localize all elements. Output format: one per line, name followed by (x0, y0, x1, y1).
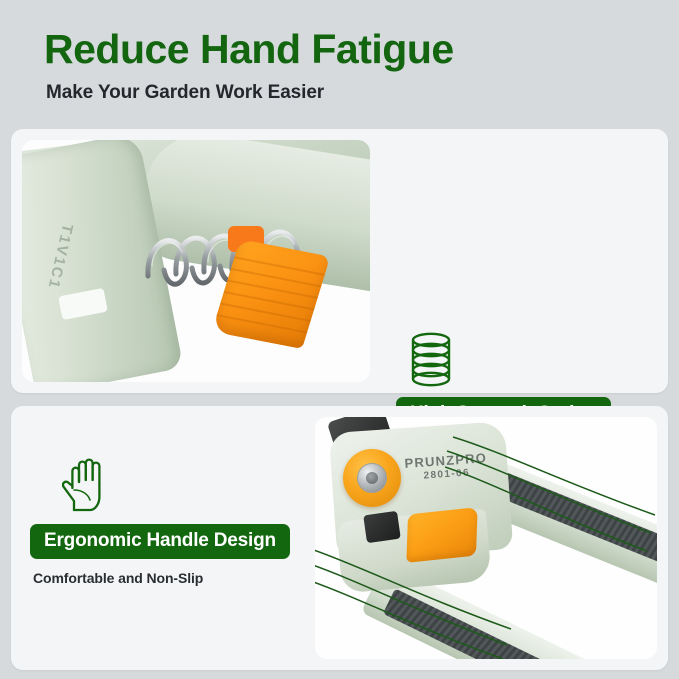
spring-coil-icon (408, 331, 454, 387)
orange-safety-lock (406, 507, 477, 563)
feature-panel-handle: Ergonomic Handle Design Comfortable and … (11, 406, 668, 670)
caption-handle: Comfortable and Non-Slip (30, 570, 310, 586)
icon-container (396, 325, 666, 387)
pruner-handle-photo: PRUNZPRO 2801-06 (315, 417, 657, 659)
status-badge-handle: Ergonomic Handle Design (30, 524, 290, 559)
black-catch (363, 511, 401, 543)
page-title: Reduce Hand Fatigue (44, 28, 644, 71)
header: Reduce Hand Fatigue Make Your Garden Wor… (44, 28, 644, 104)
spring-mechanism-photo: T1V1C1 (22, 140, 370, 382)
open-hand-icon (62, 456, 110, 514)
icon-container (30, 452, 310, 514)
page-subtitle: Make Your Garden Work Easier (46, 82, 644, 104)
callout-handle: Ergonomic Handle Design Comfortable and … (30, 452, 310, 586)
pivot-core (366, 472, 378, 484)
product-feature-infographic: Reduce Hand Fatigue Make Your Garden Wor… (0, 0, 679, 679)
brand-mark: PRUNZPRO 2801-06 (404, 450, 488, 484)
feature-panel-spring: T1V1C1 (11, 129, 668, 393)
